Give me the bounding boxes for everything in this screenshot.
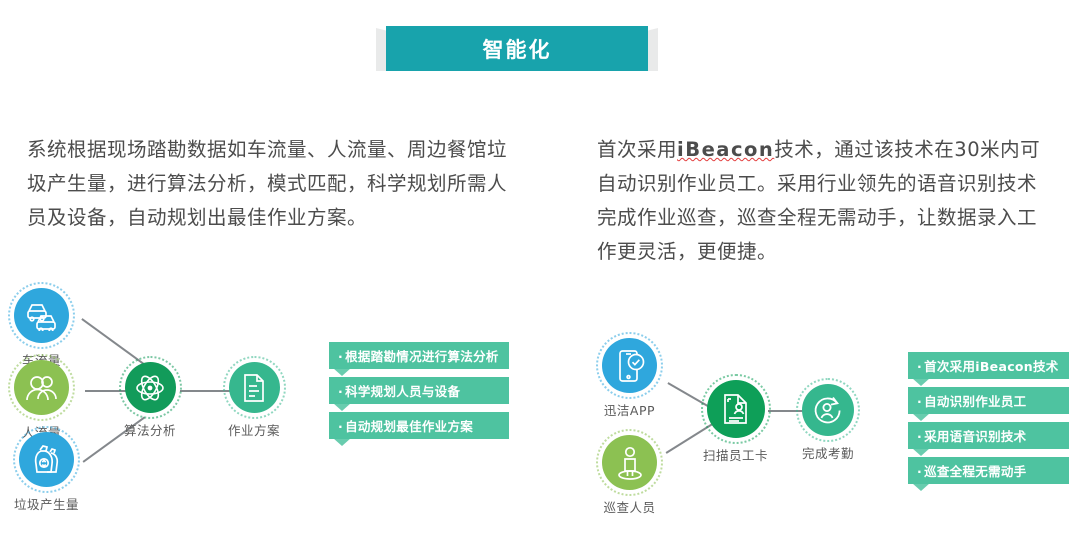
node-label-work-plan: 作业方案 <box>228 420 280 439</box>
right-paragraph: 首次采用iBeacon技术，通过该技术在30米内可自动识别作业员工。采用行业领先… <box>597 133 1047 269</box>
node-xunjie-app[interactable]: 迅洁APP <box>602 338 657 419</box>
title-banner: 智能化 <box>376 26 658 73</box>
node-algorithm-analysis[interactable]: 算法分析 <box>124 362 176 439</box>
node-attendance-complete[interactable]: 完成考勤 <box>802 384 854 462</box>
left-tag-list: ·根据踏勘情况进行算法分析 ·科学规划人员与设备 ·自动规划最佳作业方案 <box>329 342 509 447</box>
left-flow-diagram: 车流量 人流量 垃圾产生量 <box>0 280 520 530</box>
tag-bullet: · <box>917 429 922 444</box>
tag-item[interactable]: ·巡查全程无需动手 <box>908 457 1069 484</box>
tag-label: 巡查全程无需动手 <box>924 464 1026 479</box>
node-label-scan-employee-card: 扫描员工卡 <box>703 445 768 464</box>
tag-label: 根据踏勘情况进行算法分析 <box>345 349 499 364</box>
right-flow-diagram: 迅洁APP 巡查人员 扫描员工卡 <box>590 330 1087 530</box>
tag-bullet: · <box>917 464 922 479</box>
tag-bullet: · <box>338 349 343 364</box>
banner-bar: 智能化 <box>386 26 648 71</box>
inspector-icon <box>602 435 657 490</box>
tag-item[interactable]: ·自动规划最佳作业方案 <box>329 412 509 439</box>
id-card-icon <box>707 380 765 438</box>
node-label-attendance-complete: 完成考勤 <box>802 443 854 462</box>
people-icon <box>14 360 69 415</box>
right-paragraph-part1: 首次采用 <box>597 138 677 161</box>
trash-bags-icon <box>19 432 74 487</box>
cars-icon <box>14 288 69 343</box>
spellcheck-word-ibeacon: iBeacon <box>677 138 774 161</box>
phone-check-icon <box>602 338 657 393</box>
node-label-garbage-output: 垃圾产生量 <box>14 494 79 513</box>
atom-icon <box>125 362 176 413</box>
attendance-icon <box>802 384 854 436</box>
connector-cars-to-algorithm <box>82 318 144 364</box>
node-garbage-output[interactable]: 垃圾产生量 <box>14 432 79 513</box>
slide-root: { "banner": { "title": "智能化", "color": "… <box>0 0 1087 539</box>
tag-label: 自动识别作业员工 <box>924 394 1026 409</box>
tag-item[interactable]: ·科学规划人员与设备 <box>329 377 509 404</box>
tag-label: 采用语音识别技术 <box>924 429 1026 444</box>
tag-item[interactable]: ·采用语音识别技术 <box>908 422 1069 449</box>
tag-bullet: · <box>338 384 343 399</box>
node-scan-employee-card[interactable]: 扫描员工卡 <box>703 380 768 464</box>
tag-item[interactable]: ·自动识别作业员工 <box>908 387 1069 414</box>
tag-label: 自动规划最佳作业方案 <box>345 419 473 434</box>
tag-bullet: · <box>917 359 922 374</box>
node-label-inspector: 巡查人员 <box>603 497 655 516</box>
right-tag-list: ·首次采用iBeacon技术 ·自动识别作业员工 ·采用语音识别技术 ·巡查全程… <box>908 352 1069 492</box>
left-paragraph: 系统根据现场踏勘数据如车流量、人流量、周边餐馆垃圾产生量，进行算法分析，模式匹配… <box>27 133 507 235</box>
tag-item[interactable]: ·根据踏勘情况进行算法分析 <box>329 342 509 369</box>
document-icon <box>229 362 280 413</box>
tag-label: 科学规划人员与设备 <box>345 384 460 399</box>
node-label-xunjie-app: 迅洁APP <box>604 400 655 419</box>
tag-bullet: · <box>338 419 343 434</box>
node-work-plan[interactable]: 作业方案 <box>228 362 280 439</box>
tag-label: 首次采用iBeacon技术 <box>924 359 1059 374</box>
tag-bullet: · <box>917 394 922 409</box>
node-label-algorithm-analysis: 算法分析 <box>124 420 176 439</box>
node-inspector[interactable]: 巡查人员 <box>602 435 657 516</box>
tag-item[interactable]: ·首次采用iBeacon技术 <box>908 352 1069 379</box>
page-title: 智能化 <box>483 34 552 64</box>
